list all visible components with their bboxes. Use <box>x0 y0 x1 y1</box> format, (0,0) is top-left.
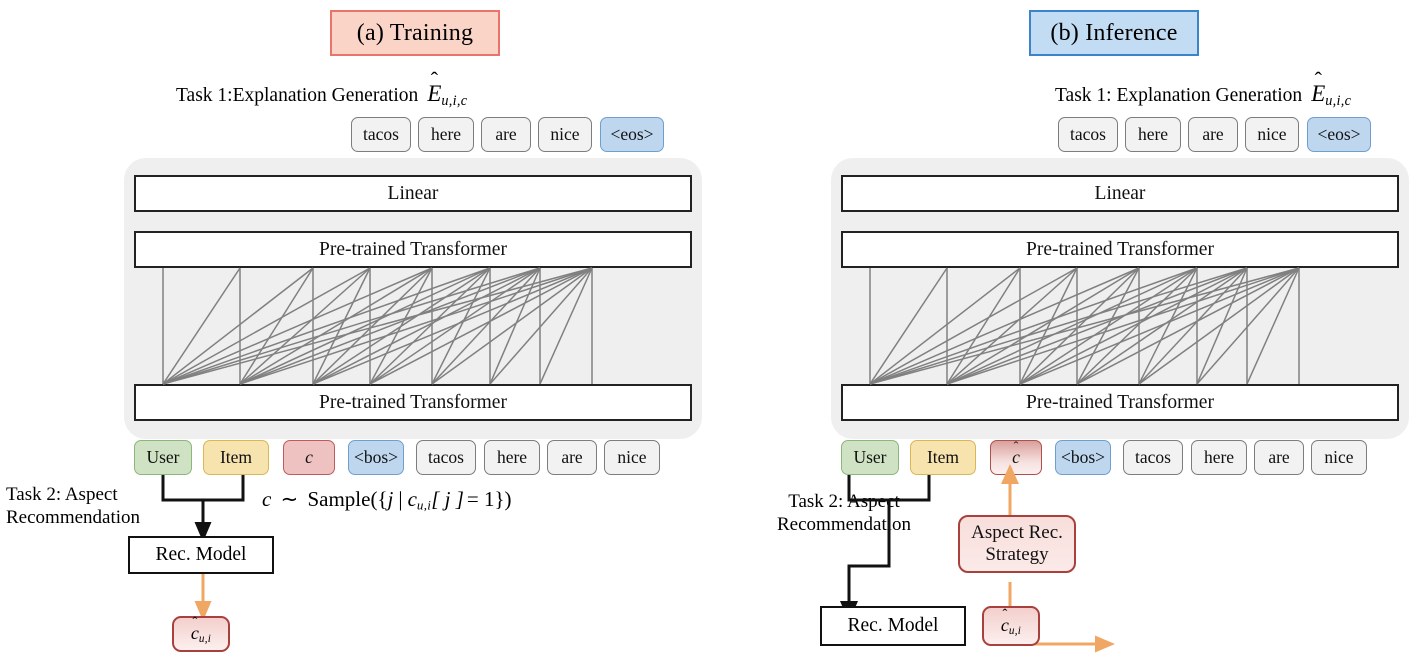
rec-output-symbol: ̂cu,i <box>1001 615 1021 637</box>
formula-eq: = 1 <box>464 487 495 511</box>
rec-output-subscript: u,i <box>199 633 211 645</box>
explanation-symbol: ̂Eu,i,c <box>1311 81 1351 110</box>
aspect-c-hat-glyph: ̂c <box>1012 447 1020 468</box>
output-token[interactable]: tacos <box>351 117 411 152</box>
output-token[interactable]: tacos <box>1058 117 1118 152</box>
input-token[interactable]: tacos <box>416 440 476 475</box>
input-token[interactable]: nice <box>604 440 660 475</box>
task1-label: Task 1: Explanation Generation <box>1055 85 1302 107</box>
rec-output-box-training[interactable]: ̂cu,i <box>172 616 230 652</box>
output-token[interactable]: are <box>1188 117 1238 152</box>
output-token[interactable]: are <box>481 117 531 152</box>
symbol-subscript: u,i,c <box>1325 93 1351 109</box>
output-token[interactable]: here <box>418 117 474 152</box>
strategy-label-line1: Aspect Rec. <box>971 522 1063 544</box>
output-token-eos[interactable]: <eos> <box>600 117 664 152</box>
output-token[interactable]: nice <box>538 117 592 152</box>
aspect-c-glyph: c <box>305 447 313 468</box>
explanation-symbol: ̂Eu,i,c <box>427 81 467 110</box>
symbol-base: E <box>1311 81 1325 106</box>
input-token[interactable]: here <box>484 440 540 475</box>
formula-cui-subscript: u,i <box>417 498 431 513</box>
formula-close: }) <box>494 487 511 511</box>
panel-title-inference: (b) Inference <box>1029 10 1199 56</box>
attention-lines-inference <box>831 158 1409 439</box>
output-token[interactable]: here <box>1125 117 1181 152</box>
task1-caption-training: Task 1:Explanation Generation ̂Eu,i,c <box>176 81 467 110</box>
panel-inference: (b) Inference Task 1: Explanation Genera… <box>707 0 1417 655</box>
symbol-base: E <box>427 81 441 106</box>
input-token[interactable]: are <box>547 440 597 475</box>
attention-lines-training <box>124 158 702 439</box>
rec-output-base: c <box>1001 615 1009 635</box>
formula-cui: c <box>408 487 417 511</box>
panel-training: (a) Training Task 1:Explanation Generati… <box>0 0 710 655</box>
strategy-label-line2: Strategy <box>985 544 1048 566</box>
task1-label: Task 1:Explanation Generation <box>176 85 418 107</box>
aspect-rec-strategy-box[interactable]: Aspect Rec. Strategy <box>958 515 1076 573</box>
task1-caption-inference: Task 1: Explanation Generation ̂Eu,i,c <box>1055 81 1351 110</box>
rec-model-box-inference[interactable]: Rec. Model <box>820 606 966 646</box>
rec-output-box-inference[interactable]: ̂cu,i <box>982 606 1040 646</box>
input-token[interactable]: nice <box>1311 440 1367 475</box>
rec-output-subscript: u,i <box>1009 625 1021 637</box>
panel-title-training: (a) Training <box>330 10 500 56</box>
rec-output-symbol: ̂cu,i <box>191 623 211 645</box>
rec-model-box-training[interactable]: Rec. Model <box>128 536 274 574</box>
output-token[interactable]: nice <box>1245 117 1299 152</box>
formula-bracket-j: [ j ] <box>431 487 464 511</box>
rec-output-base: c <box>191 623 199 643</box>
symbol-subscript: u,i,c <box>441 93 467 109</box>
output-token-eos[interactable]: <eos> <box>1307 117 1371 152</box>
